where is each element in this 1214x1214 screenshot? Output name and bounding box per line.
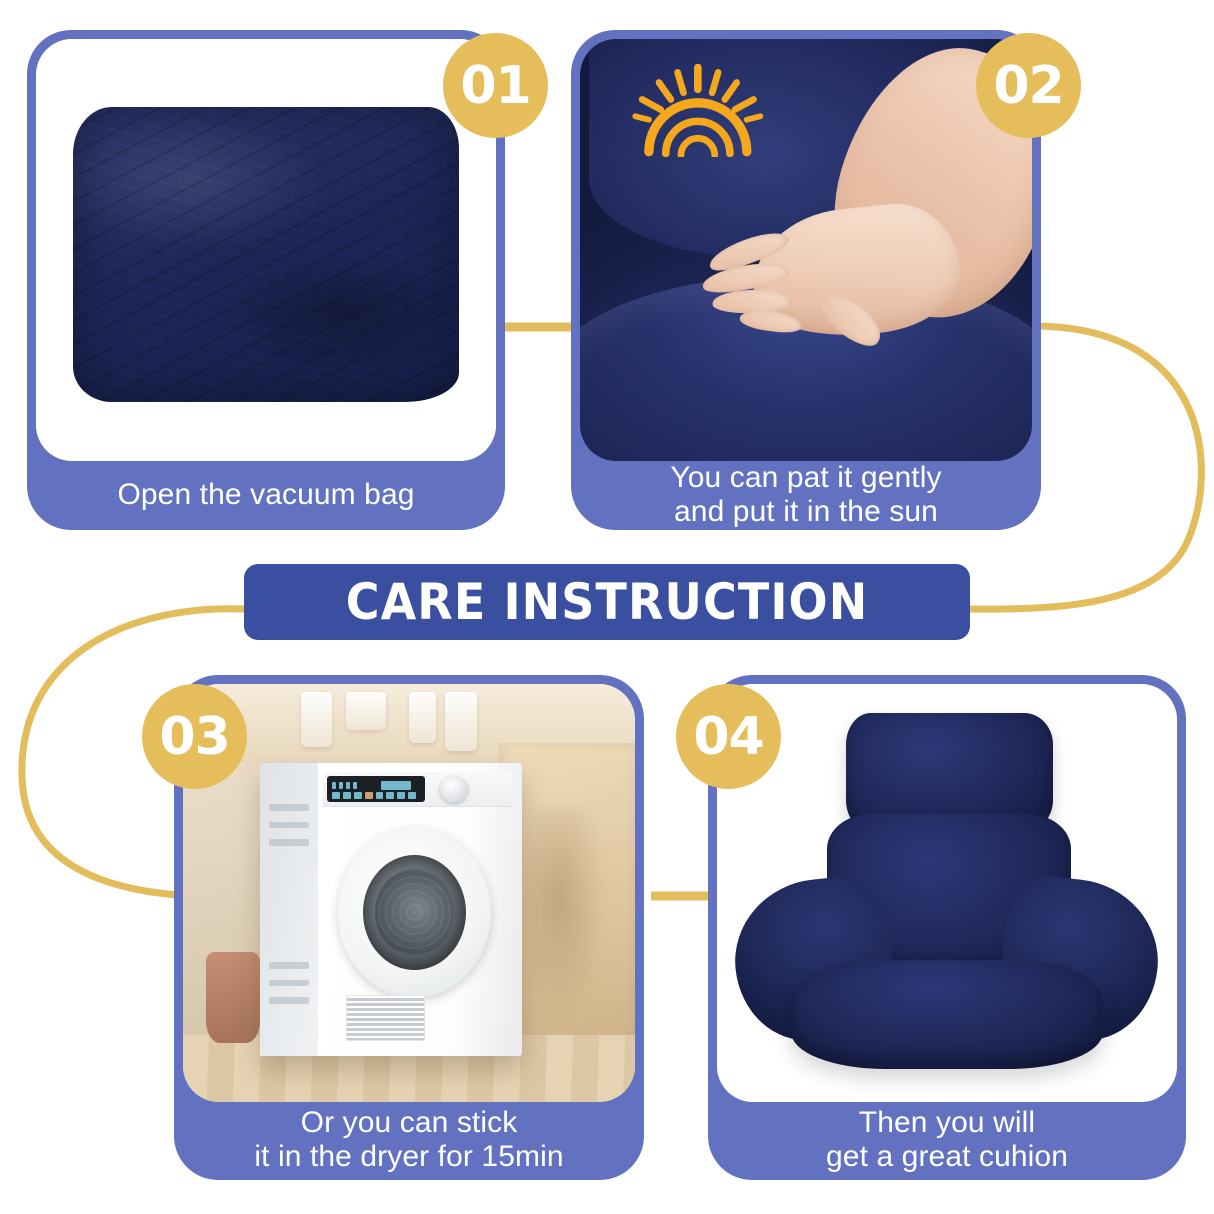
seat-cushion [791, 960, 1104, 1069]
shelf-jar-4 [445, 692, 477, 751]
plant-shadow [508, 809, 607, 1026]
step-04-number-badge: 04 [676, 684, 781, 789]
shelf-jar-3 [409, 692, 436, 742]
shelf-jar-2 [346, 692, 387, 730]
dryer-display [327, 776, 425, 802]
fabric-wrinkle-texture [73, 107, 459, 402]
step-02-caption-line-1: You can pat it gently [670, 461, 941, 495]
dryer-control-panel [323, 772, 512, 807]
infographic-canvas: Open the vacuum bag 01 [0, 0, 1214, 1214]
dryer-door-glass [363, 855, 466, 970]
step-03-image [183, 684, 635, 1102]
page-title-banner: CARE INSTRUCTION [244, 564, 970, 640]
step-02-number-badge: 02 [976, 33, 1081, 138]
step-04-caption-line-2: get a great cuhion [826, 1140, 1068, 1174]
step-03-caption: Or you can stick it in the dryer for 15m… [174, 1104, 644, 1180]
step-04-image [717, 684, 1177, 1102]
step-01-image [36, 39, 496, 461]
step-02-caption-line-2: and put it in the sun [674, 495, 938, 529]
step-02-photo-background [580, 39, 1032, 461]
clothes-dryer [260, 763, 522, 1056]
step-03-caption-line-1: Or you can stick [301, 1106, 518, 1140]
step-card-04[interactable]: Then you will get a great cuhion [708, 675, 1186, 1180]
dryer-vent-grille [346, 995, 425, 1042]
laundry-basket [206, 952, 260, 1044]
dryer-side-panel [260, 763, 318, 1056]
step-01-caption-line-1: Open the vacuum bag [117, 478, 414, 512]
step-03-photo-background [183, 684, 635, 1102]
dryer-door[interactable] [338, 828, 490, 998]
shelf-jar-1 [301, 692, 333, 746]
step-01-photo-background [36, 39, 496, 461]
step-03-number: 03 [159, 707, 229, 767]
step-04-photo-background [717, 684, 1177, 1102]
step-card-01[interactable]: Open the vacuum bag [27, 30, 505, 530]
step-01-number: 01 [460, 56, 530, 116]
step-01-number-badge: 01 [443, 33, 548, 138]
step-04-caption-line-1: Then you will [859, 1106, 1035, 1140]
page-title: CARE INSTRUCTION [346, 573, 869, 631]
step-card-02[interactable]: You can pat it gently and put it in the … [571, 30, 1041, 530]
dryer-drum [375, 869, 454, 957]
step-03-number-badge: 03 [142, 684, 247, 789]
step-04-number: 04 [693, 707, 763, 767]
sun-icon [621, 64, 775, 157]
step-02-number: 02 [993, 56, 1063, 116]
step-02-image [580, 39, 1032, 461]
step-01-caption: Open the vacuum bag [27, 464, 505, 530]
step-04-caption: Then you will get a great cuhion [708, 1104, 1186, 1180]
step-03-caption-line-2: it in the dryer for 15min [254, 1140, 563, 1174]
dryer-program-knob[interactable] [440, 776, 468, 803]
step-02-caption: You can pat it gently and put it in the … [571, 464, 1041, 530]
vacuum-bag-object [73, 107, 459, 402]
